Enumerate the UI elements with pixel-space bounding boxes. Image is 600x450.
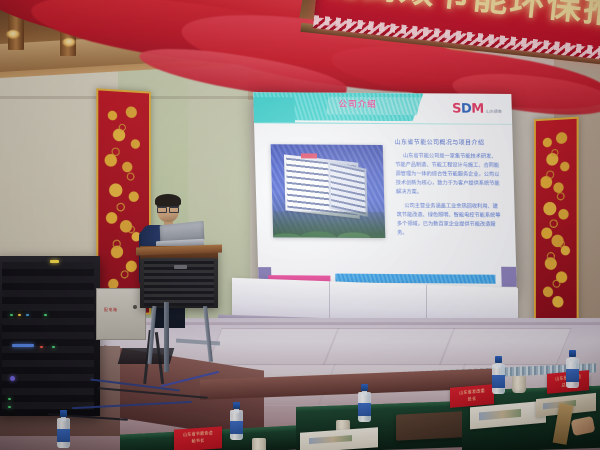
bottle-label (358, 403, 371, 416)
bottle-cap (495, 356, 502, 363)
slide-paragraph: 山东省节能公司是一家集节能技术研发、节能产品制造、节能工程设计与施工、合同能源管… (395, 152, 500, 198)
lectern (140, 246, 218, 308)
paper-cup[interactable] (252, 438, 266, 450)
eyeglasses-icon (157, 206, 179, 211)
lectern-top (136, 244, 222, 255)
water-bottle[interactable] (358, 384, 371, 422)
status-led-bar (50, 260, 59, 263)
bottle-cap (569, 350, 576, 357)
sdm-logo: SDM山东德美 (452, 102, 502, 117)
bottle-cap (361, 384, 368, 391)
bottle-cap (233, 402, 240, 409)
spotlight (62, 38, 76, 47)
conference-hall-photo: 化高效节能环保推介会 公司介绍 SDM山东德美 山东省节能公司概况与项目 (0, 0, 600, 450)
spotlight (6, 30, 20, 39)
photo-building-sign (301, 153, 317, 158)
bottle-label (492, 375, 505, 388)
floor-tile (322, 328, 455, 366)
document-graphic (479, 409, 521, 420)
logo-letter-d: D (461, 102, 472, 117)
av-equipment-rack (0, 256, 100, 416)
scroll-pattern-outline (544, 128, 567, 311)
photo-trees (273, 211, 386, 238)
logo-subtext: 山东德美 (486, 109, 502, 114)
scroll-pattern-outline (107, 100, 140, 306)
status-led (44, 314, 47, 316)
status-led (40, 346, 43, 348)
bottle-cap (60, 410, 67, 417)
lectern-leg (164, 302, 169, 372)
status-led (8, 406, 11, 408)
table-name-card: 山东省发改委 处长 (450, 384, 494, 408)
slide-footer-lavender-right (501, 267, 517, 287)
slide-text-column: 山东省节能公司概况与项目介绍 山东省节能公司是一家集节能技术研发、节能产品制造、… (394, 137, 501, 244)
logo-letter-m: M (471, 102, 484, 117)
slide-header-block (253, 97, 295, 122)
floor-tile (438, 328, 571, 366)
ornament-panel-right (534, 117, 579, 324)
water-bottle[interactable] (230, 402, 243, 440)
bottle-label (57, 429, 70, 442)
water-bottle[interactable] (492, 356, 505, 394)
status-led (18, 314, 21, 316)
water-bottle[interactable] (57, 410, 70, 448)
slide-title: 山东省节能公司概况与项目介绍 (394, 137, 498, 147)
bottle-label (566, 369, 579, 382)
document-graphic (309, 435, 352, 445)
floor-tile (206, 328, 339, 366)
paper-cup[interactable] (512, 376, 526, 393)
status-led (52, 346, 55, 348)
water-bottle[interactable] (566, 350, 579, 388)
status-led (10, 314, 13, 316)
status-led (10, 376, 15, 381)
slide-header-tab-label: 公司介绍 (338, 98, 376, 110)
projection-screen[interactable]: 公司介绍 SDM山东德美 山东省节能公司概况与项目介绍 山东省节能公司是一家集节… (253, 92, 517, 291)
slide-paragraph: 公司主营业务涵盖工业余热回收利用、建筑节能改造、绿色照明、智能电控节能系统等多个… (396, 202, 501, 239)
indicator-dot (133, 305, 137, 309)
photo-building-wing-floors (330, 163, 365, 214)
wall-control-box-label: 配电箱 (104, 307, 118, 313)
lectern-badge (174, 265, 187, 269)
status-led (26, 314, 29, 316)
slide-building-photo (271, 144, 386, 238)
slide-header-rule (254, 122, 512, 125)
bottle-label (230, 421, 243, 434)
table-name-card: 山东省节能协会 秘书长 (174, 426, 222, 450)
status-led (8, 398, 11, 400)
photo-building-wing (328, 161, 368, 217)
rack-units (2, 262, 94, 410)
status-led-bar (12, 344, 34, 347)
